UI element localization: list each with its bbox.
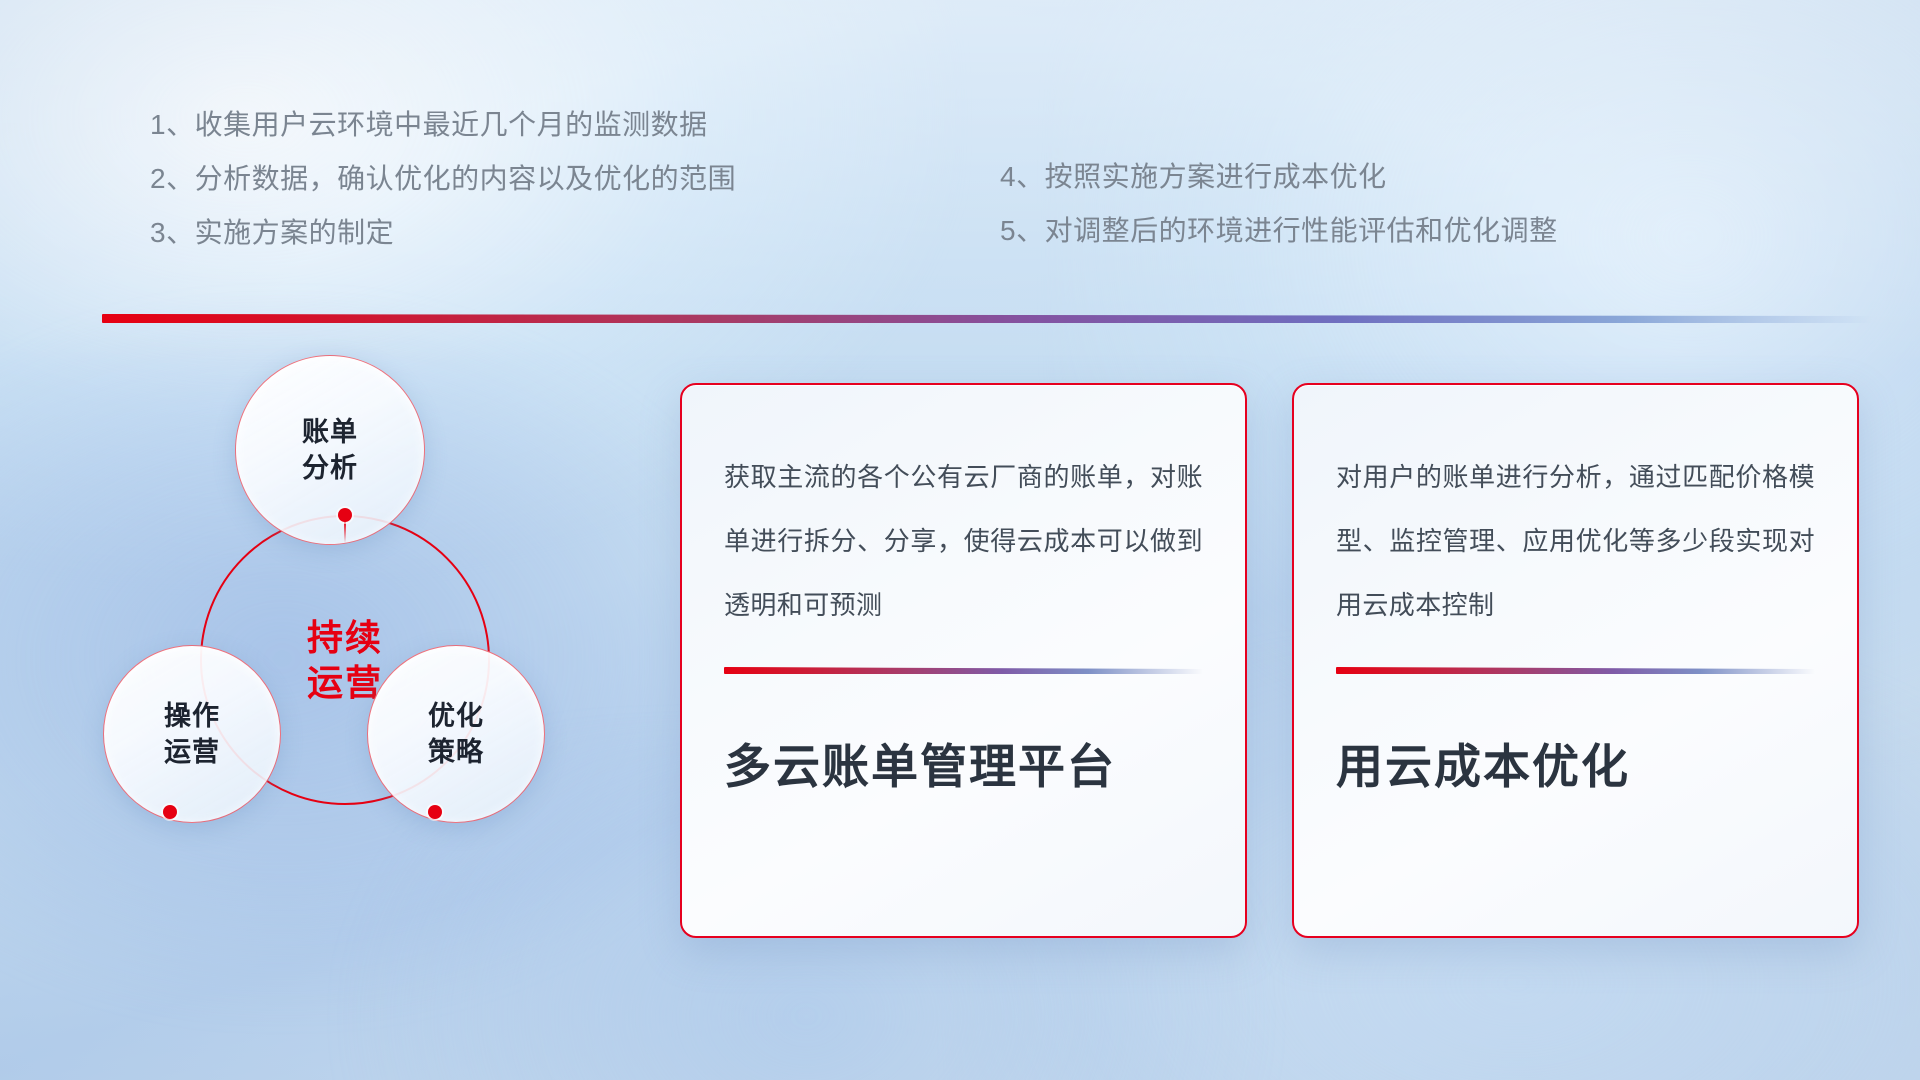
venn-bubble-right[interactable]: 优化 策略	[367, 645, 545, 823]
venn-connector-tick-top	[344, 521, 346, 543]
venn-node-dot-top	[338, 508, 352, 522]
venn-bubble-right-line2: 策略	[428, 734, 484, 770]
venn-node-dot-right	[428, 805, 442, 819]
card-two-divider	[1336, 667, 1815, 674]
step-list-left-column: 1、收集用户云环境中最近几个月的监测数据 2、分析数据，确认优化的内容以及优化的…	[150, 98, 910, 260]
venn-bubble-left-line1: 操作	[164, 698, 220, 734]
step-item-5: 5、对调整后的环境进行性能评估和优化调整	[1000, 204, 1800, 258]
venn-center-label-line2: 运营	[307, 660, 383, 705]
venn-bubble-left-line2: 运营	[164, 734, 220, 770]
venn-node-dot-left	[163, 805, 177, 819]
venn-bubble-left[interactable]: 操作 运营	[103, 645, 281, 823]
venn-bubble-top-line1: 账单	[302, 414, 358, 450]
step-item-4: 4、按照实施方案进行成本优化	[1000, 150, 1800, 204]
step-item-2: 2、分析数据，确认优化的内容以及优化的范围	[150, 152, 910, 206]
card-cloud-cost-optimization[interactable]: 对用户的账单进行分析，通过匹配价格模型、监控管理、应用优化等多少段实现对用云成本…	[1292, 383, 1859, 938]
card-one-body: 获取主流的各个公有云厂商的账单，对账单进行拆分、分享，使得云成本可以做到透明和可…	[724, 445, 1203, 637]
venn-center-label-line1: 持续	[307, 615, 383, 660]
card-two-title: 用云成本优化	[1336, 728, 1815, 797]
card-multi-cloud-billing[interactable]: 获取主流的各个公有云厂商的账单，对账单进行拆分、分享，使得云成本可以做到透明和可…	[680, 383, 1247, 938]
venn-bubble-right-line1: 优化	[428, 698, 484, 734]
card-two-body: 对用户的账单进行分析，通过匹配价格模型、监控管理、应用优化等多少段实现对用云成本…	[1336, 445, 1815, 637]
step-list-right-column: 4、按照实施方案进行成本优化 5、对调整后的环境进行性能评估和优化调整	[1000, 150, 1800, 258]
venn-bubble-top-line2: 分析	[302, 450, 358, 486]
card-one-title: 多云账单管理平台	[724, 728, 1203, 797]
venn-diagram: 持续 运营 账单 分析 操作 运营 优化 策略	[95, 355, 595, 915]
venn-bubble-top[interactable]: 账单 分析	[235, 355, 425, 545]
step-item-3: 3、实施方案的制定	[150, 206, 910, 260]
step-item-1: 1、收集用户云环境中最近几个月的监测数据	[150, 98, 910, 152]
card-one-divider	[724, 667, 1203, 674]
